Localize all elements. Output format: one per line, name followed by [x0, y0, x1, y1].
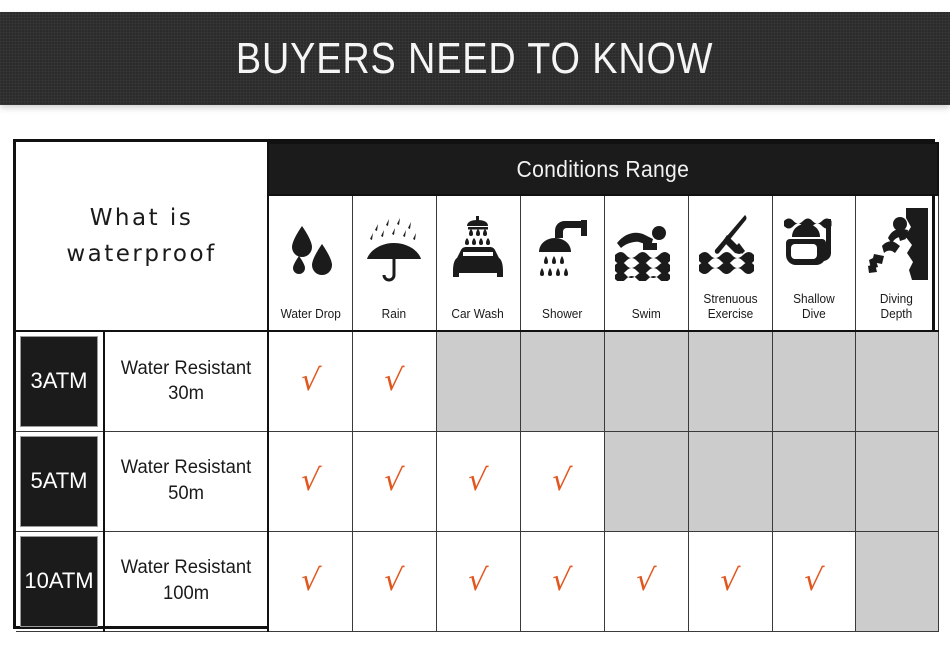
- conditions-range-header: Conditions Range: [268, 143, 938, 195]
- corner-header-line2: waterproof: [16, 237, 267, 273]
- column-label-swim: Swim: [631, 307, 660, 324]
- column-header-rain: Rain: [352, 195, 436, 331]
- check-icon: √: [719, 566, 741, 596]
- cell-3atm-shower: [520, 331, 604, 431]
- rating-badge: 10ATM: [20, 536, 98, 627]
- description-text: Water Resistant 50m: [107, 455, 264, 506]
- cell-10atm-shallow-dive: √: [772, 531, 855, 631]
- cell-5atm-diving-depth: [855, 431, 938, 531]
- column-label-car-wash: Car Wash: [452, 307, 504, 324]
- rating-badge: 3ATM: [20, 336, 98, 427]
- conditions-range-label: Conditions Range: [517, 156, 690, 183]
- page-header-banner: BUYERS NEED TO KNOW: [0, 12, 950, 105]
- description-text: Water Resistant 100m: [107, 555, 264, 606]
- rating-cell-5atm: 5ATM: [16, 431, 104, 531]
- check-icon: √: [551, 566, 573, 596]
- description-line1: Water Resistant: [107, 356, 264, 382]
- column-header-water-drop: Water Drop: [268, 195, 352, 331]
- check-icon: √: [383, 466, 405, 496]
- cell-3atm-rain: √: [352, 331, 436, 431]
- column-label-strenuous-exercise: Strenuous Exercise: [703, 292, 757, 324]
- rating-badge: 5ATM: [20, 436, 98, 527]
- check-icon: √: [467, 466, 489, 496]
- table-row-10atm: 10ATM Water Resistant 100m √ √ √ √ √ √ √: [16, 531, 938, 631]
- column-label-diving-depth: Diving Depth: [880, 292, 913, 324]
- column-header-car-wash: Car Wash: [436, 195, 520, 331]
- description-line2: 50m: [107, 481, 264, 507]
- description-line1: Water Resistant: [107, 555, 264, 581]
- check-icon: √: [383, 366, 405, 396]
- cell-3atm-diving-depth: [855, 331, 938, 431]
- cell-5atm-car-wash: √: [436, 431, 520, 531]
- check-icon: √: [299, 466, 321, 496]
- column-label-rain: Rain: [382, 307, 406, 324]
- scuba-diver-icon: [858, 196, 936, 292]
- column-header-swim: Swim: [604, 195, 688, 331]
- table-group-header-row: What is waterproof Conditions Range: [16, 143, 938, 195]
- table-row-5atm: 5ATM Water Resistant 50m √ √ √ √: [16, 431, 938, 531]
- snorkel-mask-icon: [775, 196, 853, 292]
- description-cell-3atm: Water Resistant 30m: [104, 331, 268, 431]
- check-icon: √: [802, 566, 824, 596]
- corner-header-label: What is waterproof: [16, 201, 267, 272]
- swimmer-icon: [607, 196, 686, 307]
- shower-icon: [523, 196, 602, 307]
- cell-10atm-water-drop: √: [268, 531, 352, 631]
- cell-3atm-strenuous-exercise: [688, 331, 772, 431]
- column-label-water-drop: Water Drop: [280, 307, 340, 324]
- cell-5atm-swim: [604, 431, 688, 531]
- waterproof-rating-table: What is waterproof Conditions Range: [13, 139, 935, 629]
- car-wash-icon: [439, 196, 518, 307]
- umbrella-rain-icon: [355, 196, 434, 307]
- cell-10atm-swim: √: [604, 531, 688, 631]
- corner-header-line1: What is: [16, 201, 267, 237]
- cell-10atm-diving-depth: [855, 531, 938, 631]
- description-line2: 100m: [107, 581, 264, 607]
- cell-5atm-shallow-dive: [772, 431, 855, 531]
- column-header-shower: Shower: [520, 195, 604, 331]
- cell-3atm-swim: [604, 331, 688, 431]
- rating-cell-3atm: 3ATM: [16, 331, 104, 431]
- check-icon: √: [299, 566, 321, 596]
- check-icon: √: [299, 366, 321, 396]
- column-header-diving-depth: Diving Depth: [855, 195, 938, 331]
- check-icon: √: [383, 566, 405, 596]
- cell-10atm-rain: √: [352, 531, 436, 631]
- water-drop-icon: [271, 196, 350, 307]
- description-cell-5atm: Water Resistant 50m: [104, 431, 268, 531]
- cell-10atm-strenuous-exercise: √: [688, 531, 772, 631]
- column-header-strenuous-exercise: Strenuous Exercise: [688, 195, 772, 331]
- cell-3atm-car-wash: [436, 331, 520, 431]
- check-icon: √: [551, 466, 573, 496]
- description-line1: Water Resistant: [107, 455, 264, 481]
- diver-jump-icon: [691, 196, 770, 292]
- cell-10atm-shower: √: [520, 531, 604, 631]
- corner-header-cell: What is waterproof: [16, 143, 268, 331]
- column-label-shower: Shower: [542, 307, 582, 324]
- description-line2: 30m: [107, 381, 264, 407]
- page-title: BUYERS NEED TO KNOW: [236, 34, 714, 84]
- description-cell-10atm: Water Resistant 100m: [104, 531, 268, 631]
- cell-5atm-water-drop: √: [268, 431, 352, 531]
- description-text: Water Resistant 30m: [107, 356, 264, 407]
- check-icon: √: [467, 566, 489, 596]
- cell-5atm-strenuous-exercise: [688, 431, 772, 531]
- column-header-shallow-dive: Shallow Dive: [772, 195, 855, 331]
- cell-5atm-shower: √: [520, 431, 604, 531]
- table-row-3atm: 3ATM Water Resistant 30m √ √: [16, 331, 938, 431]
- column-label-shallow-dive: Shallow Dive: [793, 292, 835, 324]
- cell-3atm-shallow-dive: [772, 331, 855, 431]
- cell-5atm-rain: √: [352, 431, 436, 531]
- cell-10atm-car-wash: √: [436, 531, 520, 631]
- rating-cell-10atm: 10ATM: [16, 531, 104, 631]
- check-icon: √: [635, 566, 657, 596]
- cell-3atm-water-drop: √: [268, 331, 352, 431]
